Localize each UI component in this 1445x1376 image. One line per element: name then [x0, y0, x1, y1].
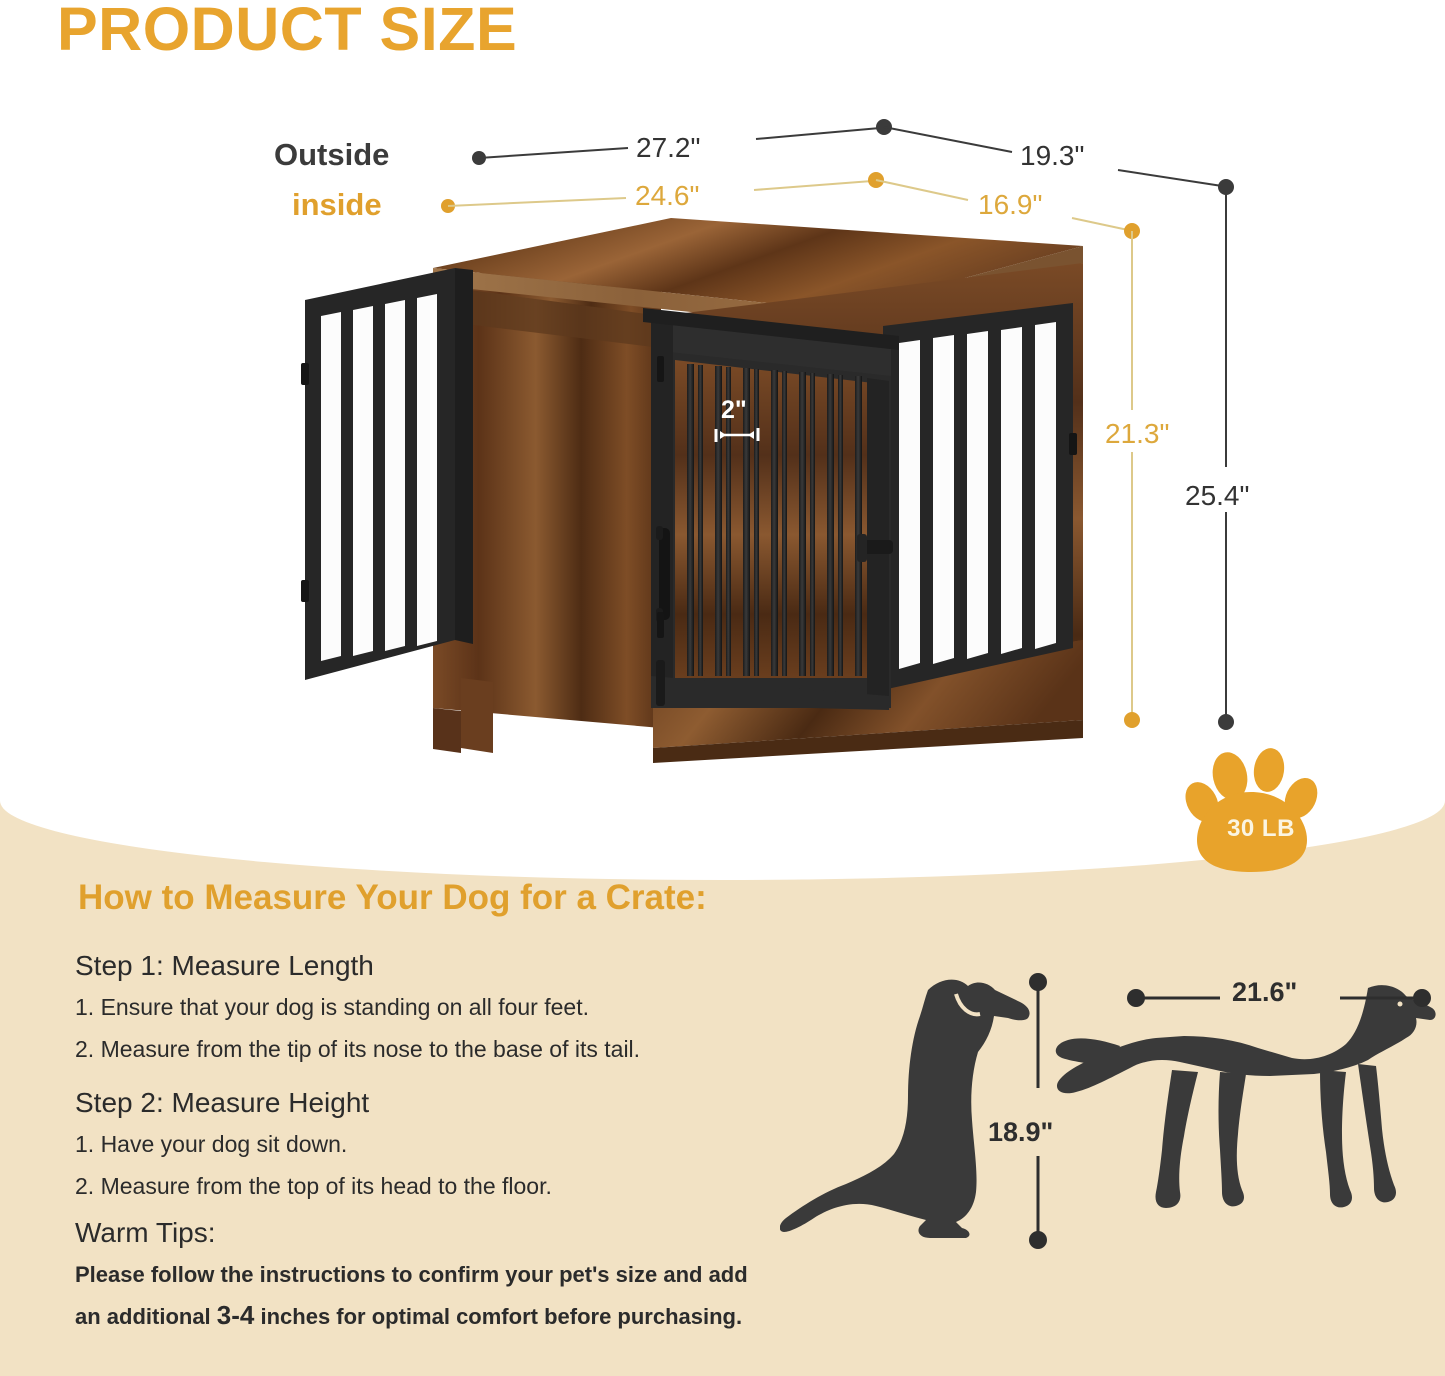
- dog-standing-silhouette-icon: [1056, 985, 1436, 1208]
- dog-standing-length-label: 21.6": [1232, 977, 1297, 1008]
- step-2-line-1: 1. Have your dog sit down.: [75, 1131, 347, 1158]
- infographic-canvas: PRODUCT SIZE Outside inside 27.2" 24.6" …: [0, 0, 1445, 1376]
- step-2-title: Step 2: Measure Height: [75, 1087, 369, 1119]
- paw-print-icon: [1185, 748, 1335, 873]
- dimension-outside-width: 27.2": [636, 132, 700, 164]
- warm-tips-line-1: Please follow the instructions to confir…: [75, 1262, 748, 1288]
- dimension-outside-height: 25.4": [1185, 480, 1249, 512]
- warm-tips-line-2-pre: an additional: [75, 1304, 217, 1329]
- dog-crate-product-image: [283, 208, 1083, 768]
- step-1-title: Step 1: Measure Length: [75, 950, 374, 982]
- dog-sitting-silhouette-icon: [780, 980, 1030, 1238]
- how-to-measure-heading: How to Measure Your Dog for a Crate:: [78, 878, 707, 918]
- dimension-inside-height: 21.3": [1105, 418, 1169, 450]
- dog-measurement-guide: [780, 960, 1440, 1300]
- step-1-line-1: 1. Ensure that your dog is standing on a…: [75, 994, 589, 1021]
- warm-tips-line-2: an additional 3-4 inches for optimal com…: [75, 1300, 742, 1331]
- bar-spacing-arrow-icon: [712, 425, 764, 445]
- weight-badge-label: 30 LB: [1200, 815, 1322, 843]
- step-1-line-2: 2. Measure from the tip of its nose to t…: [75, 1036, 640, 1063]
- dog-sitting-height-label: 18.9": [988, 1117, 1053, 1148]
- dimension-outside-depth: 19.3": [1020, 140, 1084, 172]
- warm-tips-inches-emphasis: 3-4: [217, 1300, 255, 1330]
- warm-tips-title: Warm Tips:: [75, 1217, 216, 1249]
- warm-tips-line-2-post: inches for optimal comfort before purcha…: [254, 1304, 742, 1329]
- step-2-line-2: 2. Measure from the top of its head to t…: [75, 1173, 552, 1200]
- bar-spacing-label: 2": [721, 396, 747, 425]
